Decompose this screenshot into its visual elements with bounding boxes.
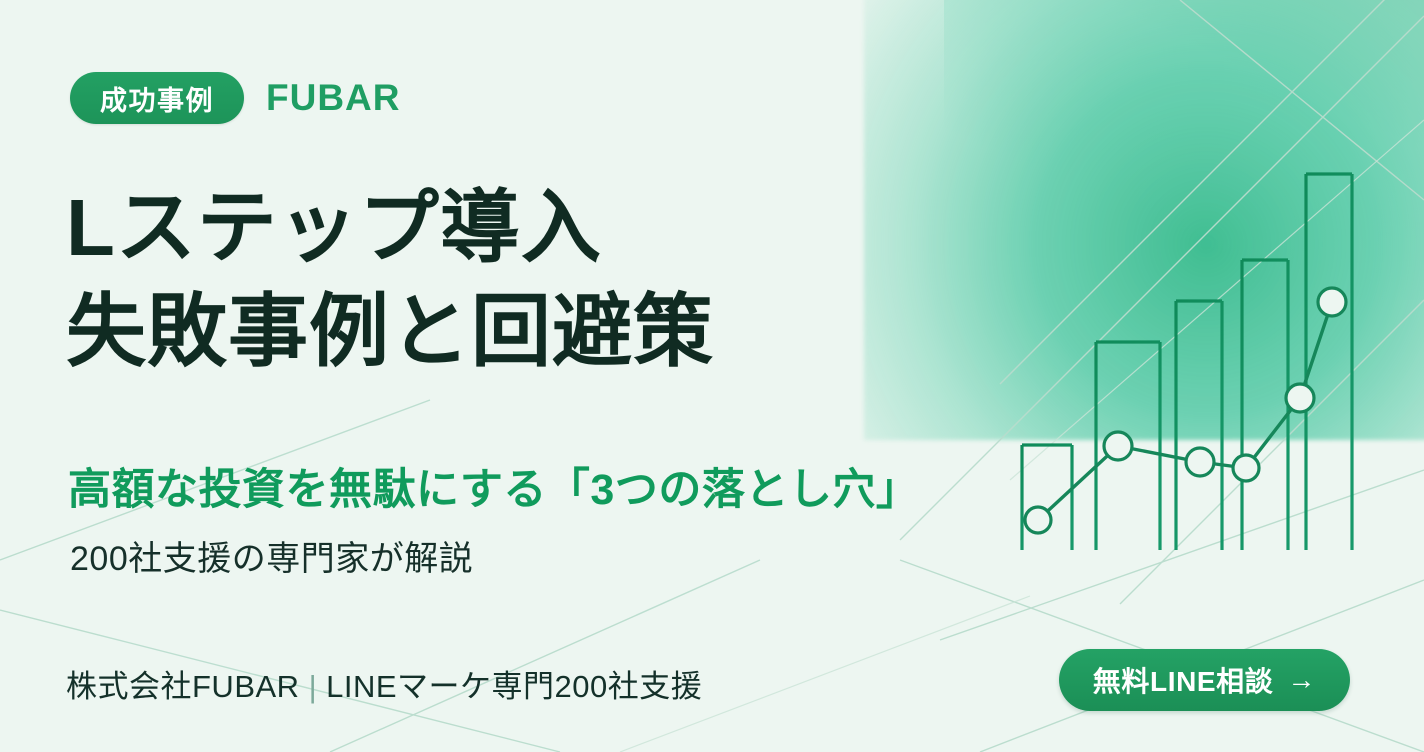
promo-banner: 成功事例 FUBAR Lステップ導入 失敗事例と回避策 高額な投資を無駄にする「… bbox=[0, 0, 1424, 752]
chart-marker-6 bbox=[1318, 288, 1346, 316]
footer-separator: | bbox=[300, 669, 327, 704]
arrow-right-icon: → bbox=[1287, 666, 1316, 694]
footer-tagline: LINEマーケ専門200社支援 bbox=[326, 669, 702, 704]
footer-company: 株式会社FUBAR bbox=[66, 669, 300, 704]
bar-chart-illustration bbox=[1000, 150, 1400, 570]
case-study-badge: 成功事例 bbox=[70, 72, 244, 124]
brand-name: FUBAR bbox=[266, 77, 400, 119]
chart-marker-2 bbox=[1104, 432, 1132, 460]
chart-marker-1 bbox=[1025, 507, 1051, 533]
chart-marker-5 bbox=[1286, 384, 1314, 412]
descriptor-text: 200社支援の専門家が解説 bbox=[70, 531, 473, 580]
chart-bar-4 bbox=[1242, 260, 1288, 550]
chart-bars bbox=[1022, 174, 1352, 550]
subheadline: 高額な投資を無駄にする「3つの落とし穴」 bbox=[68, 455, 919, 517]
headline-line-1: Lステップ導入 bbox=[66, 176, 714, 280]
cta-label: 無料LINE相談 bbox=[1093, 660, 1274, 700]
eyebrow-row: 成功事例 FUBAR bbox=[70, 72, 400, 124]
headline-line-2: 失敗事例と回避策 bbox=[66, 280, 714, 384]
free-line-consultation-button[interactable]: 無料LINE相談 → bbox=[1059, 649, 1350, 711]
footer-credit: 株式会社FUBAR|LINEマーケ専門200社支援 bbox=[66, 661, 702, 706]
chart-marker-3 bbox=[1186, 448, 1214, 476]
page-title: Lステップ導入 失敗事例と回避策 bbox=[66, 176, 714, 384]
chart-marker-4 bbox=[1233, 455, 1259, 481]
chart-bar-3 bbox=[1176, 301, 1222, 550]
